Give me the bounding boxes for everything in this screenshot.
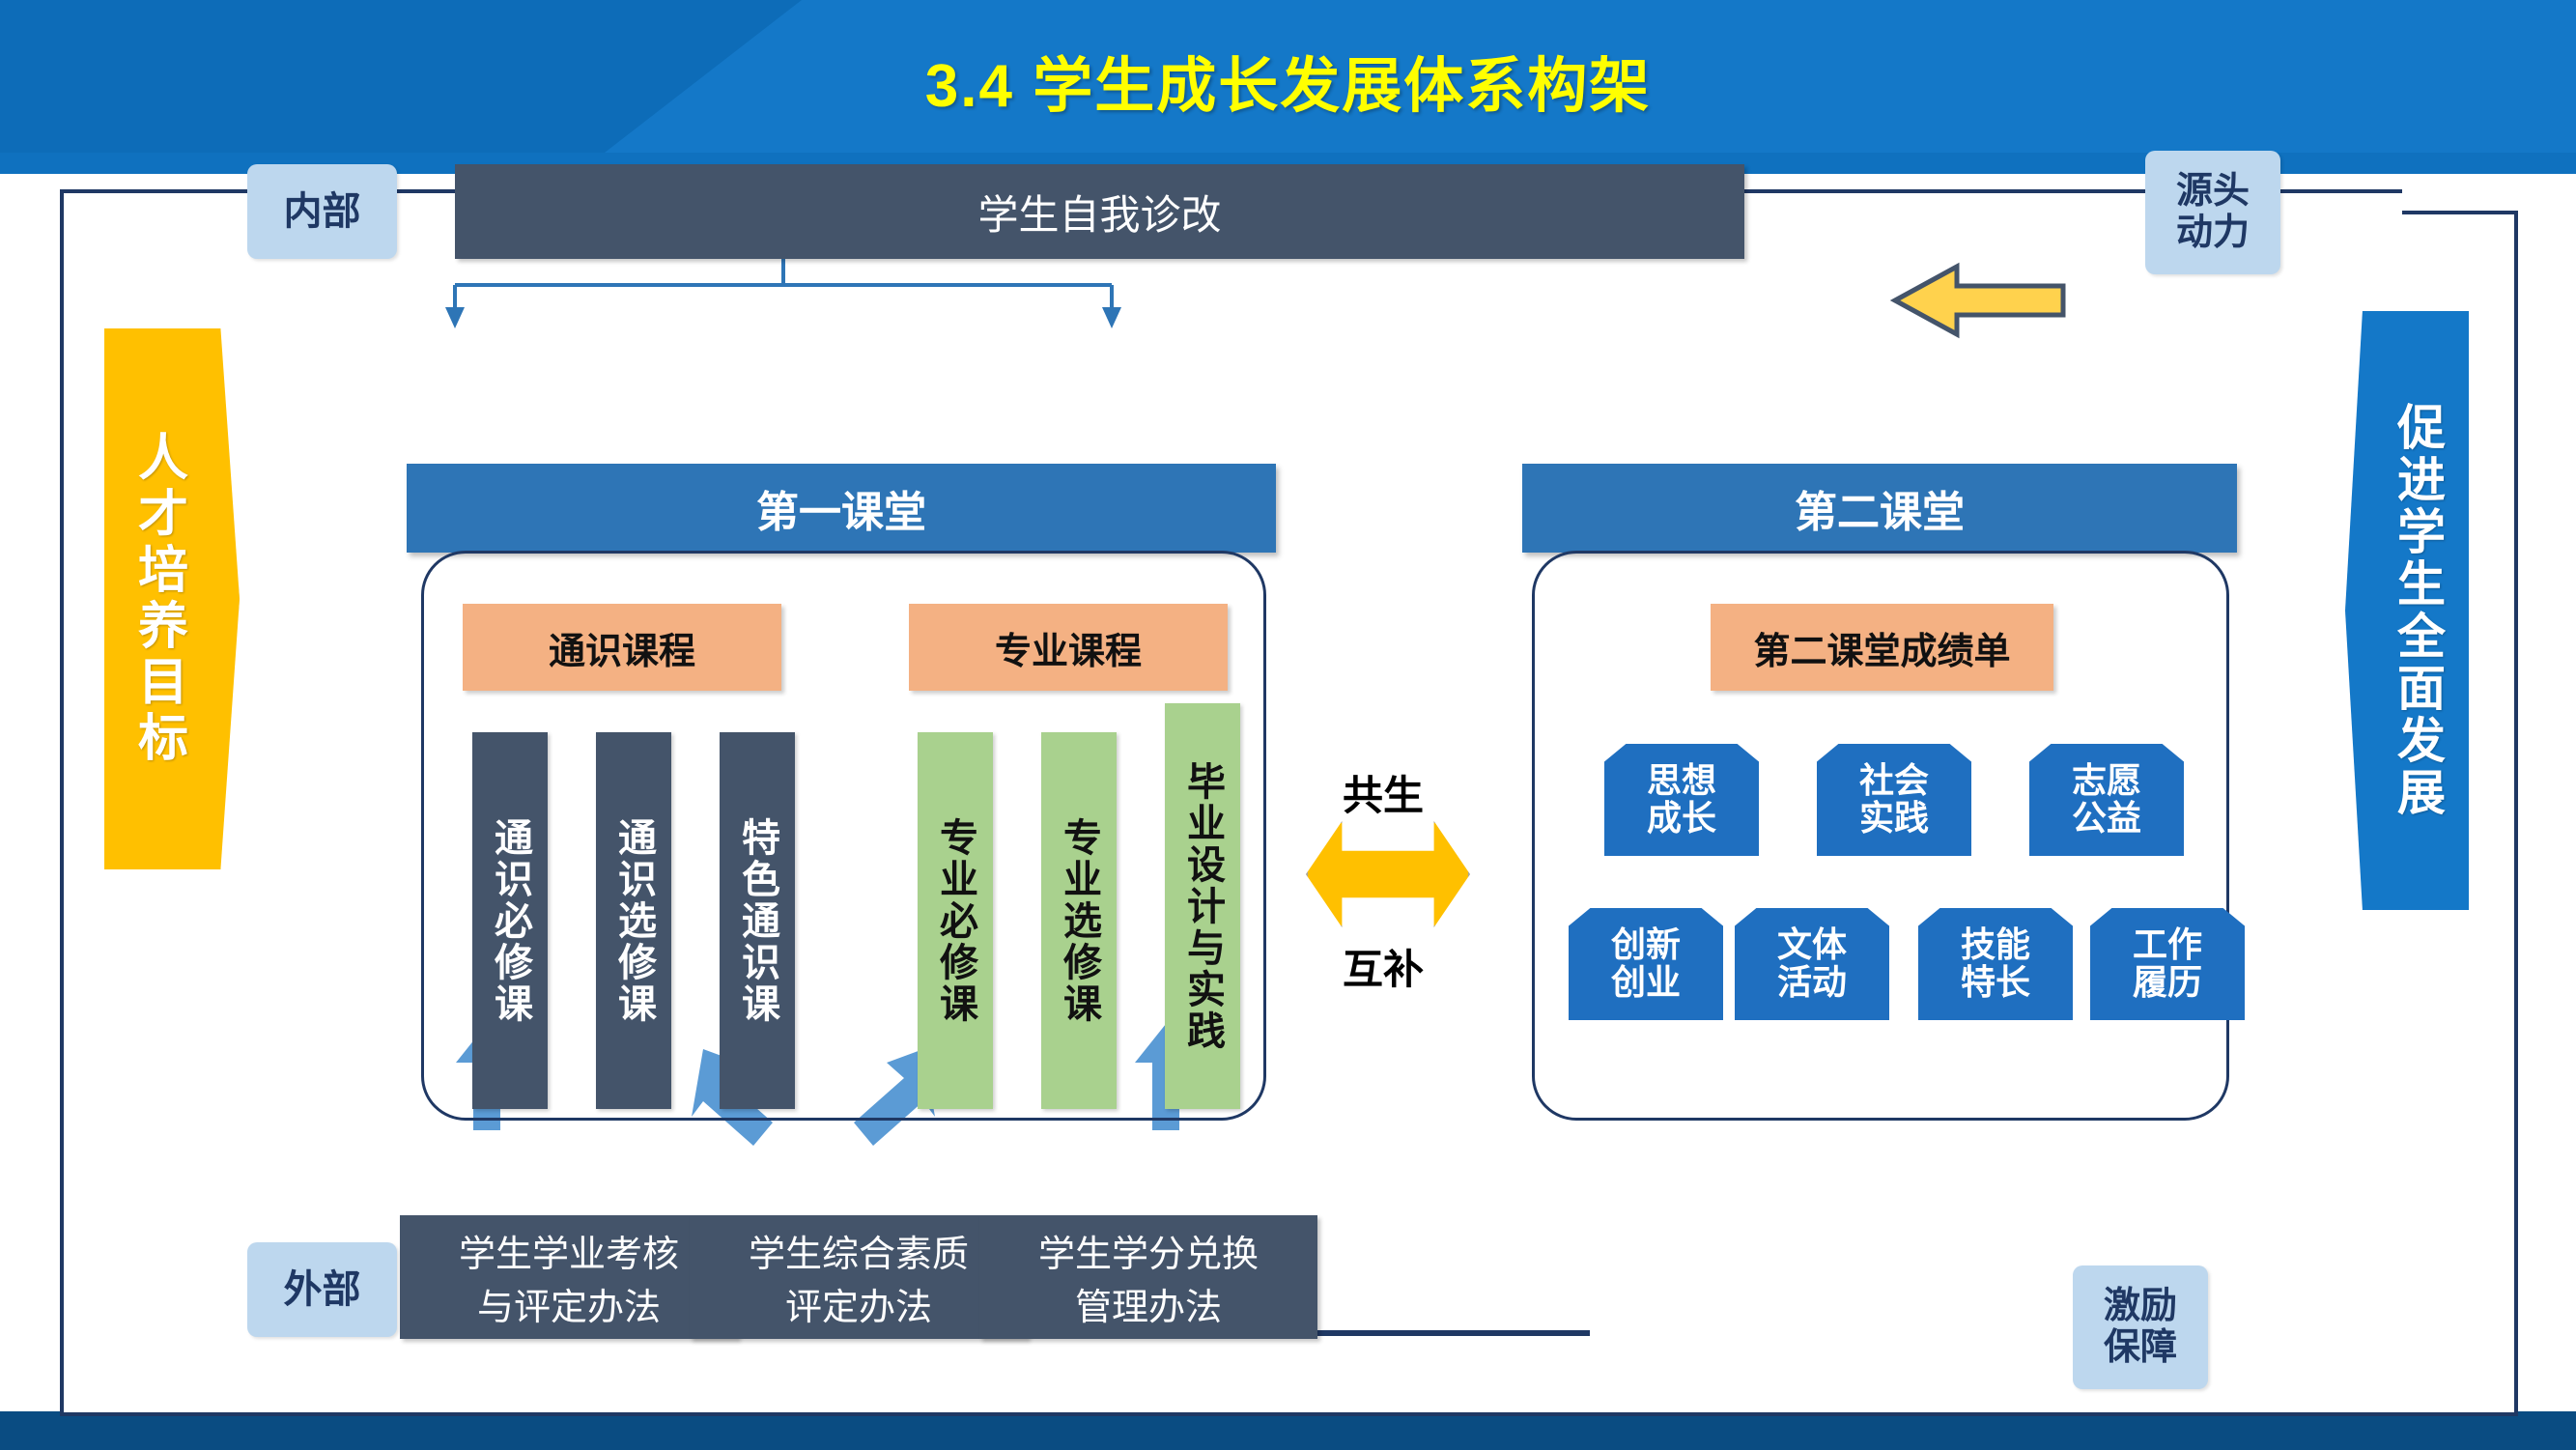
badge-cultural-sports-line2: 活动 bbox=[1777, 964, 1847, 1002]
policy-box-comprehensive-quality-line1: 学生综合素质 bbox=[749, 1224, 969, 1277]
policy-box-credit-exchange-line2: 管理办法 bbox=[1075, 1277, 1222, 1330]
badge-ideological-growth[interactable]: 思想 成长 bbox=[1604, 744, 1759, 856]
badge-social-practice-line1: 社会 bbox=[1859, 762, 1929, 800]
policy-box-academic-assessment-line1: 学生学业考核 bbox=[459, 1224, 679, 1277]
second-classroom-transcript-text: 第二课堂成绩单 bbox=[1753, 621, 2010, 674]
badge-innovation-entrepreneurship[interactable]: 创新 创业 bbox=[1569, 908, 1723, 1020]
incentive-guarantee-label: 激励 保障 bbox=[2073, 1265, 2208, 1389]
badge-volunteer-service-line1: 志愿 bbox=[2072, 762, 2141, 800]
badge-work-experience-line2: 履历 bbox=[2133, 964, 2202, 1002]
policy-box-academic-assessment-line2: 与评定办法 bbox=[477, 1277, 661, 1330]
first-classroom-title: 第一课堂 bbox=[756, 477, 926, 539]
course-column-major-required[interactable]: 专业必修课 bbox=[918, 732, 993, 1109]
badge-innovation-entrepreneurship-line2: 创业 bbox=[1611, 964, 1681, 1002]
frame-notch bbox=[2402, 189, 2518, 214]
general-courses-group-label[interactable]: 通识课程 bbox=[463, 604, 781, 691]
badge-volunteer-service-line2: 公益 bbox=[2072, 800, 2141, 838]
diagram-frame: 内部 学生自我诊改 源头 动力 人才培养目标 促进学生全面发展 第一课堂 通识课… bbox=[60, 189, 2518, 1416]
course-column-general-required-text: 通识必修课 bbox=[482, 817, 538, 1025]
talent-training-goal-text: 人才培养目标 bbox=[123, 431, 195, 767]
course-column-major-elective[interactable]: 专业选修课 bbox=[1041, 732, 1117, 1109]
badge-social-practice-line2: 实践 bbox=[1859, 800, 1929, 838]
source-motivation-line1: 源头 bbox=[2176, 171, 2250, 213]
badge-innovation-entrepreneurship-line1: 创新 bbox=[1611, 926, 1681, 964]
badge-work-experience[interactable]: 工作 履历 bbox=[2090, 908, 2245, 1020]
promote-development-text: 促进学生全面发展 bbox=[2383, 402, 2452, 819]
badge-volunteer-service[interactable]: 志愿 公益 bbox=[2029, 744, 2184, 856]
course-column-graduation-project-text: 毕业设计与实践 bbox=[1175, 761, 1231, 1052]
symbiosis-text: 共生 bbox=[1343, 773, 1424, 818]
badge-skill-specialty[interactable]: 技能 特长 bbox=[1918, 908, 2073, 1020]
page-title: 3.4 学生成长发展体系构架 bbox=[0, 37, 2576, 124]
major-courses-group-text: 专业课程 bbox=[995, 621, 1142, 674]
talent-training-goal-banner: 人才培养目标 bbox=[104, 328, 240, 869]
source-motivation-line2: 动力 bbox=[2176, 213, 2250, 254]
self-diagnosis-text: 学生自我诊改 bbox=[977, 183, 1221, 242]
external-label: 外部 bbox=[247, 1242, 397, 1337]
external-label-text: 外部 bbox=[284, 1268, 361, 1312]
course-column-graduation-project[interactable]: 毕业设计与实践 bbox=[1165, 703, 1240, 1109]
course-column-general-required[interactable]: 通识必修课 bbox=[472, 732, 548, 1109]
slide-footer-band bbox=[0, 1411, 2576, 1450]
internal-label: 内部 bbox=[247, 164, 397, 259]
incentive-guarantee-line1: 激励 bbox=[2104, 1286, 2177, 1327]
second-classroom-transcript-label[interactable]: 第二课堂成绩单 bbox=[1711, 604, 2053, 691]
second-classroom-header[interactable]: 第二课堂 bbox=[1522, 464, 2237, 553]
symbiosis-label: 共生 bbox=[1287, 763, 1480, 822]
badge-work-experience-line1: 工作 bbox=[2133, 926, 2202, 964]
first-classroom-header[interactable]: 第一课堂 bbox=[407, 464, 1276, 553]
second-classroom-title: 第二课堂 bbox=[1795, 477, 1965, 539]
badge-skill-specialty-line1: 技能 bbox=[1961, 926, 2030, 964]
policy-box-comprehensive-quality-line2: 评定办法 bbox=[785, 1277, 932, 1330]
badge-ideological-growth-line2: 成长 bbox=[1647, 800, 1716, 838]
badge-social-practice[interactable]: 社会 实践 bbox=[1817, 744, 1971, 856]
badge-cultural-sports-line1: 文体 bbox=[1777, 926, 1847, 964]
course-column-general-elective-text: 通识选修课 bbox=[606, 817, 662, 1025]
course-column-featured-general[interactable]: 特色通识课 bbox=[720, 732, 795, 1109]
course-column-major-elective-text: 专业选修课 bbox=[1051, 817, 1107, 1025]
incentive-guarantee-line2: 保障 bbox=[2104, 1327, 2177, 1369]
complement-label: 互补 bbox=[1287, 937, 1480, 996]
policy-box-credit-exchange-line1: 学生学分兑换 bbox=[1038, 1224, 1259, 1277]
internal-label-text: 内部 bbox=[284, 190, 361, 234]
complement-text: 互补 bbox=[1343, 947, 1424, 992]
general-courses-group-text: 通识课程 bbox=[549, 621, 695, 674]
self-diagnosis-box[interactable]: 学生自我诊改 bbox=[455, 164, 1744, 259]
badge-cultural-sports[interactable]: 文体 活动 bbox=[1735, 908, 1889, 1020]
source-motivation-label: 源头 动力 bbox=[2145, 151, 2280, 274]
course-column-major-required-text: 专业必修课 bbox=[927, 817, 983, 1025]
symbiosis-complement-arrow bbox=[1306, 821, 1470, 927]
major-courses-group-label[interactable]: 专业课程 bbox=[909, 604, 1228, 691]
policy-box-credit-exchange[interactable]: 学生学分兑换 管理办法 bbox=[979, 1215, 1317, 1339]
policy-box-academic-assessment[interactable]: 学生学业考核 与评定办法 bbox=[400, 1215, 738, 1339]
course-column-general-elective[interactable]: 通识选修课 bbox=[596, 732, 671, 1109]
course-column-featured-general-text: 特色通识课 bbox=[729, 817, 785, 1025]
badge-ideological-growth-line1: 思想 bbox=[1647, 762, 1716, 800]
promote-development-banner: 促进学生全面发展 bbox=[2345, 311, 2469, 910]
policy-box-comprehensive-quality[interactable]: 学生综合素质 评定办法 bbox=[690, 1215, 1028, 1339]
badge-skill-specialty-line2: 特长 bbox=[1961, 964, 2030, 1002]
